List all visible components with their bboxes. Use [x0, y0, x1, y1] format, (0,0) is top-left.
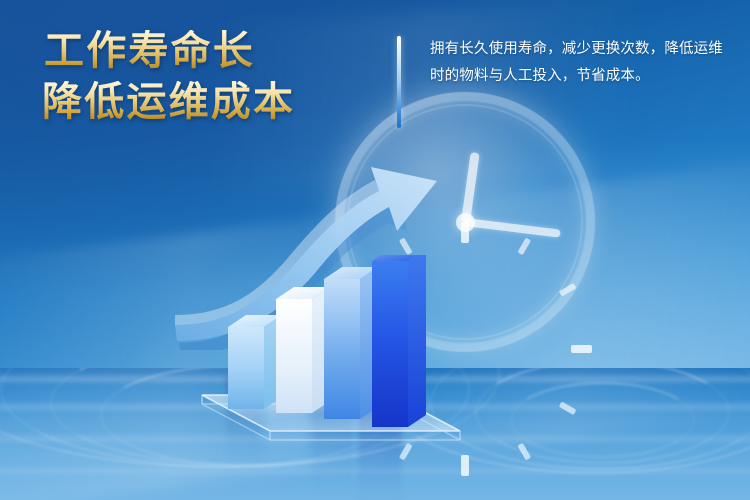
bar-2	[276, 287, 330, 413]
bar-4	[372, 255, 426, 427]
body-paragraph: 拥有长久使用寿命，减少更换次数，降低运维时的物料与人工投入，节省成本。	[430, 36, 726, 90]
vertical-divider	[397, 36, 401, 128]
clock-tick	[571, 345, 592, 353]
bar-3	[324, 267, 378, 419]
clock-hub	[456, 213, 475, 232]
ripple-ring	[510, 382, 695, 458]
banner-canvas: 工作寿命长 降低运维成本 拥有长久使用寿命，减少更换次数，降低运维时的物料与人工…	[0, 0, 750, 500]
headline-line-1: 工作寿命长	[44, 30, 295, 73]
clock-tick	[461, 455, 469, 476]
bar-chart-graphic	[196, 255, 466, 445]
bar-1	[228, 315, 282, 409]
headline: 工作寿命长 降低运维成本	[44, 30, 295, 124]
headline-line-2: 降低运维成本	[42, 81, 295, 124]
